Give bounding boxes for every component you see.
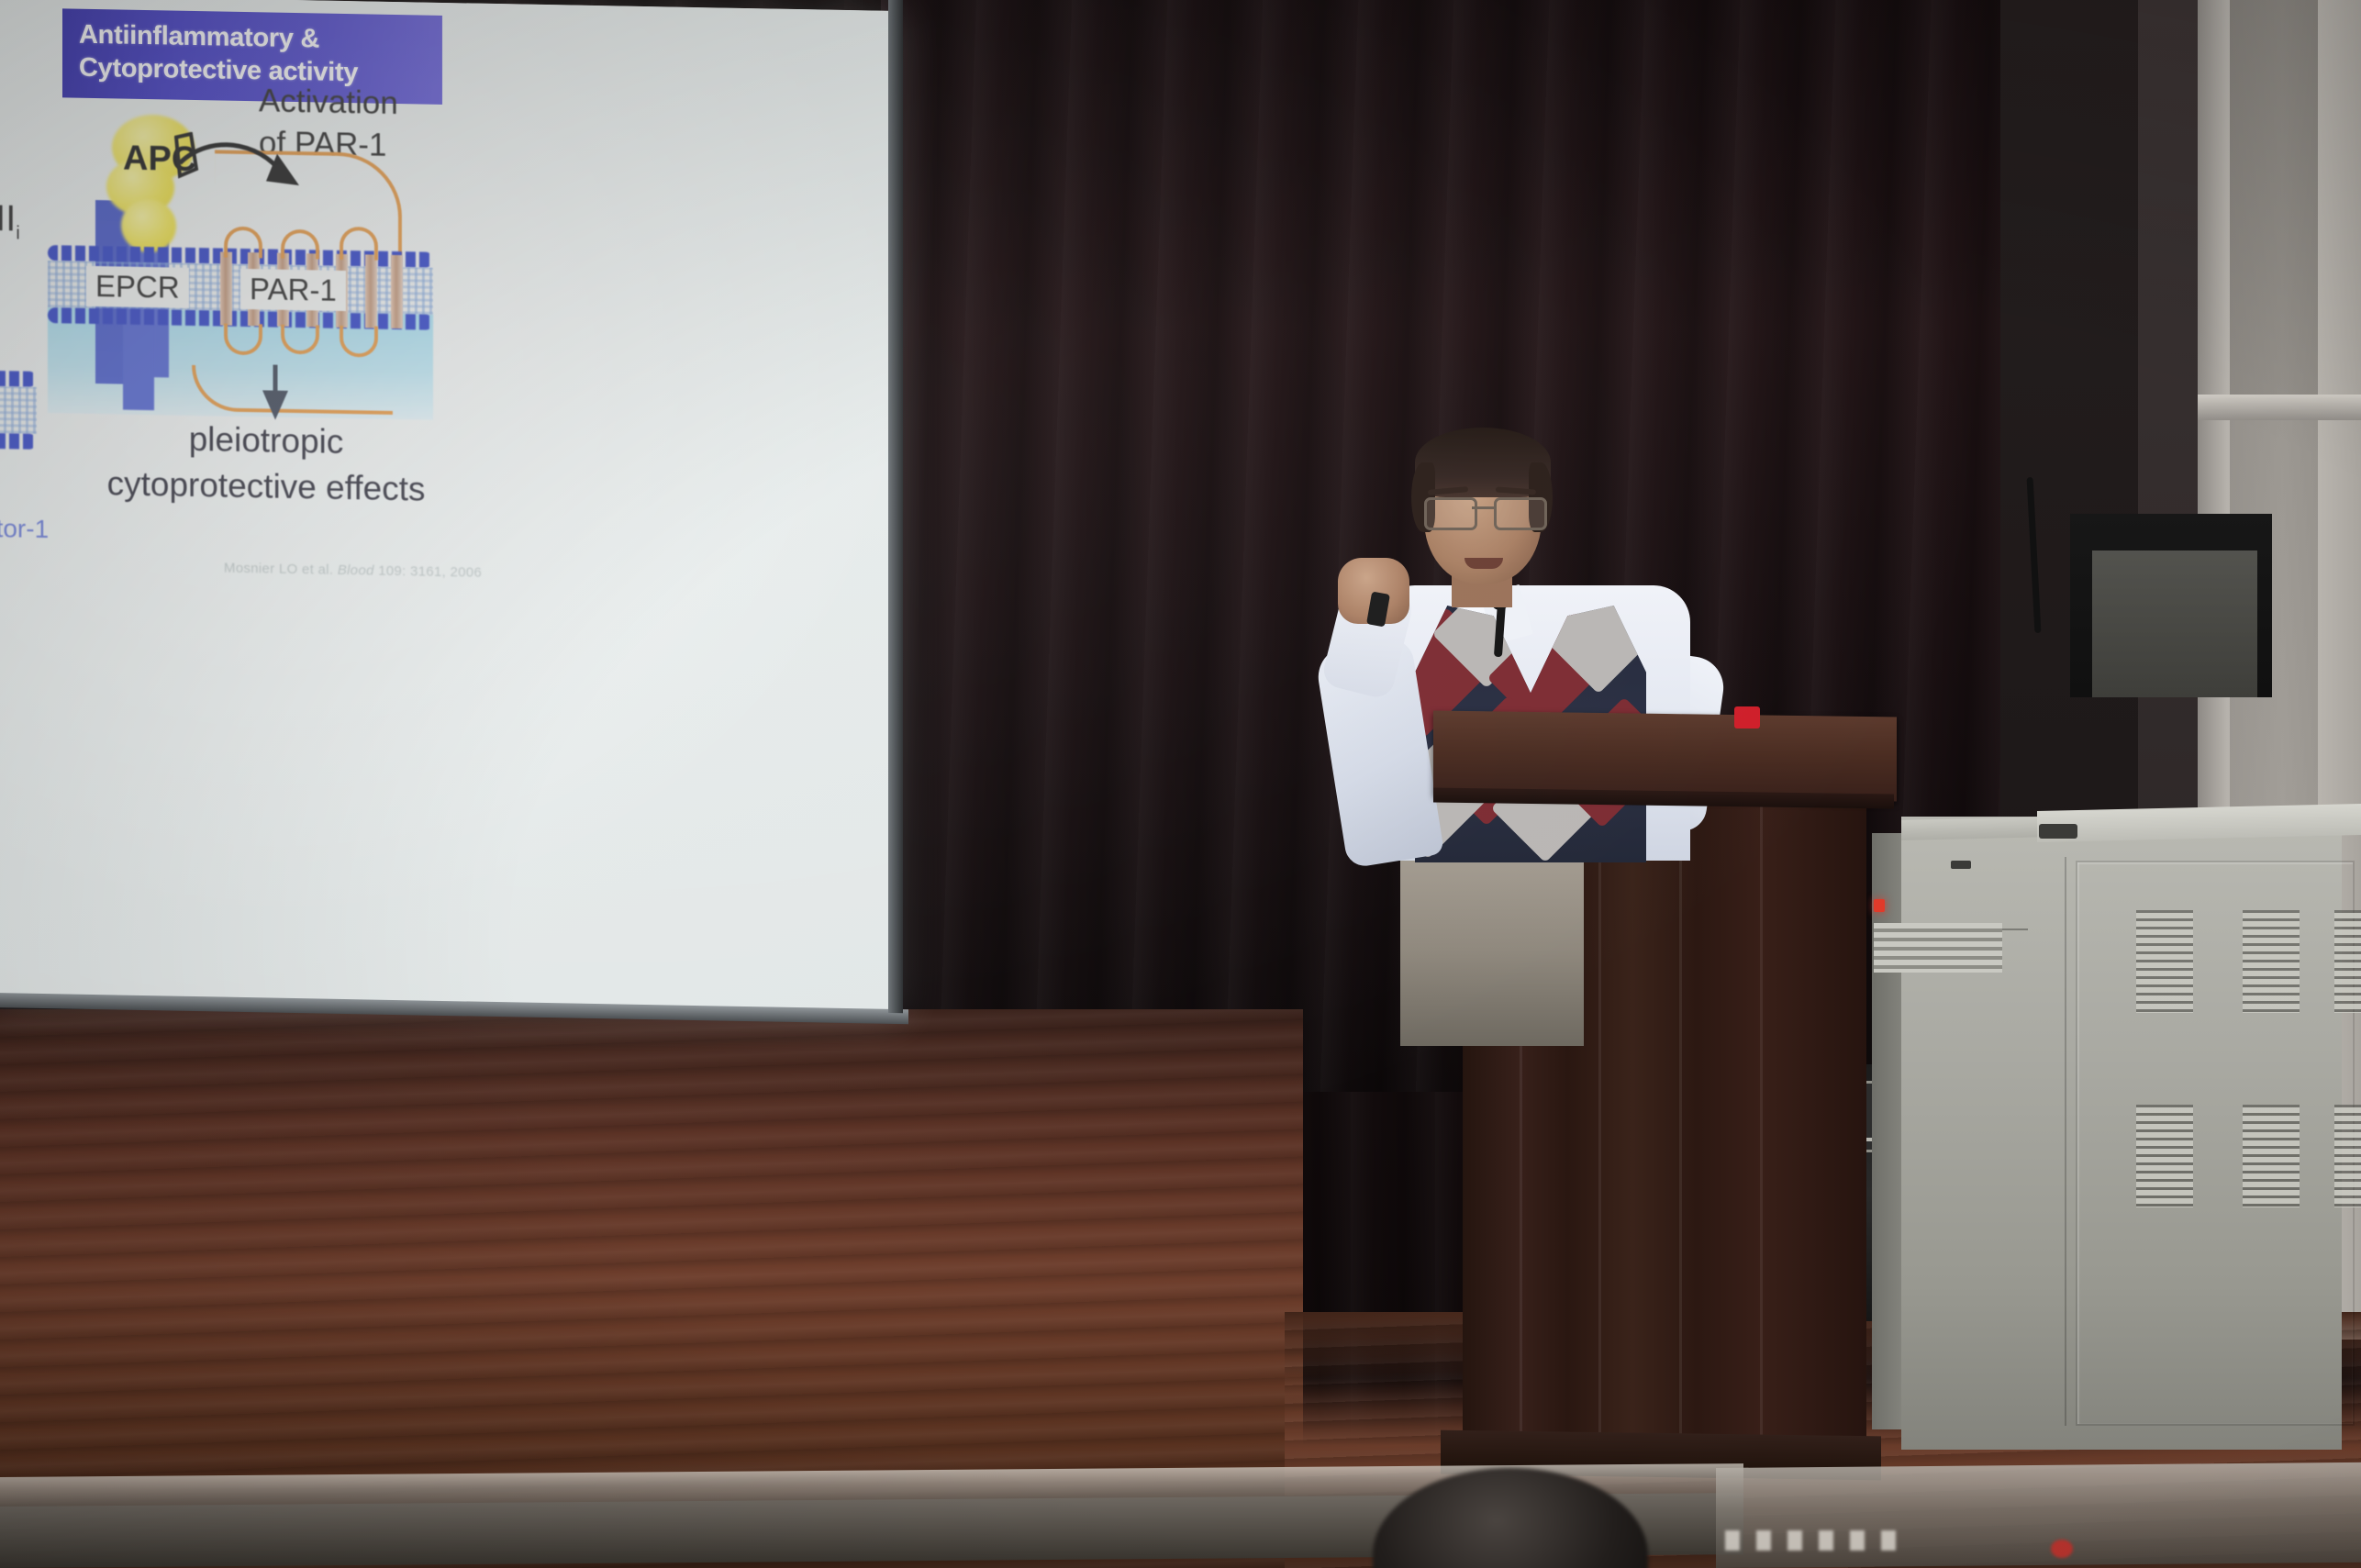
par1-tm-helix-1 [220, 252, 232, 326]
glasses-lens-right [1494, 497, 1547, 530]
cabinet-vent-6 [2334, 1105, 2361, 1207]
epcr-label: EPCR [86, 266, 189, 308]
stage-edge-highlights [1725, 1530, 1909, 1551]
slide-effect-text: pleiotropic cytoprotective effects [73, 415, 459, 514]
cabinet-vent-3 [2334, 910, 2361, 1013]
podium-groove-4 [1760, 800, 1763, 1461]
back-wall-dark-panel [2000, 0, 2138, 917]
slide-citation: Mosnier LO et al. Blood 109: 3161, 2006 [224, 561, 482, 581]
par1-tm-helix-6 [365, 254, 377, 328]
cabinet-door-seam [2065, 857, 2066, 1426]
cut-off-left-label: IIIi [0, 198, 20, 245]
activation-arrow-icon [174, 132, 312, 217]
cabinet-vent-2 [2243, 910, 2300, 1013]
annotation-line-1: Activation [259, 80, 398, 124]
cabinet-vent-4 [2136, 1105, 2193, 1207]
power-led-indicator [1874, 899, 1885, 912]
apc-lobe-3 [121, 199, 176, 253]
effect-line-2: cytoprotective effects [73, 461, 459, 514]
cut-off-bottom-label: ptor-1 [0, 514, 49, 544]
signalling-arrow-icon [257, 364, 294, 422]
cabinet-vent-5 [2243, 1105, 2300, 1207]
window-mullion [2198, 395, 2361, 420]
cabinet-door-panel [2076, 861, 2355, 1426]
podium-groove-3 [1679, 800, 1682, 1461]
cabinet-latch[interactable] [1951, 861, 1971, 869]
stage-front-lip-right [1716, 1462, 2361, 1568]
cabinet-vent-1 [2136, 910, 2193, 1013]
glasses-lens-left [1424, 497, 1477, 530]
par1-label: PAR-1 [240, 269, 346, 311]
podium-groove-2 [1598, 800, 1601, 1461]
cabinet-top-left [1901, 817, 2048, 840]
par1-tm-helix-7 [391, 255, 403, 328]
membrane-fragment-inner [0, 433, 37, 450]
citation-locator: 109: 3161, 2006 [378, 563, 482, 581]
citation-author: Mosnier LO et al. [224, 561, 333, 578]
speaker-trousers [1400, 835, 1584, 1046]
membrane-fragment-left [0, 371, 37, 450]
membrane-fragment-outer [0, 371, 37, 387]
grey-equipment-box [2092, 550, 2257, 697]
screen-right-edge [888, 0, 903, 1013]
effect-line-1: pleiotropic [73, 415, 459, 468]
foreground-red-object [2051, 1540, 2073, 1558]
speaker-mouth [1464, 558, 1503, 569]
membrane-fragment-tails [0, 386, 37, 434]
glasses-bridge [1472, 506, 1494, 509]
lecture-hall-photo: Antiinflammatory & Cytoprotective activi… [0, 0, 2361, 1568]
slide-content: Antiinflammatory & Cytoprotective activi… [0, 0, 903, 1020]
cabinet-hinge[interactable] [2039, 824, 2077, 839]
speaker-glasses [1422, 497, 1545, 525]
amplifier-faceplate [1874, 923, 2002, 973]
projection-screen: Antiinflammatory & Cytoprotective activi… [0, 0, 903, 1020]
window-pane-upper [2230, 0, 2318, 395]
citation-journal: Blood [338, 562, 374, 579]
cut-off-left-main: III [0, 198, 16, 239]
red-marker-on-podium [1734, 706, 1760, 728]
cut-off-left-sub: i [16, 223, 19, 243]
